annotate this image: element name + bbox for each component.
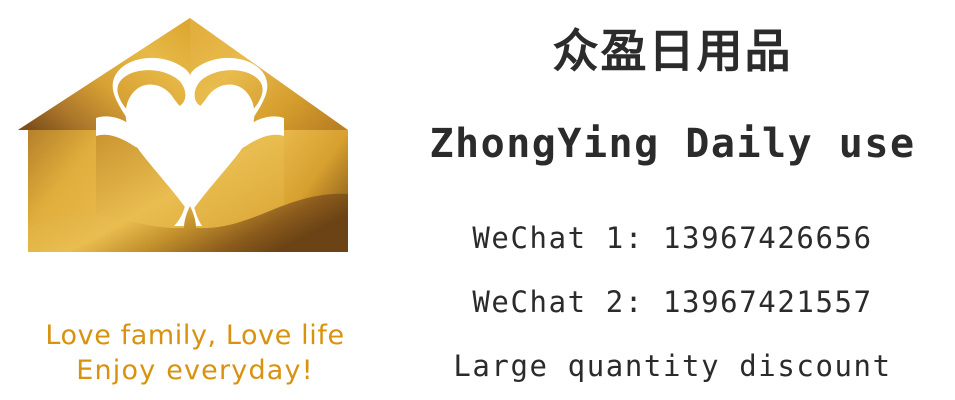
bulk-discount-note: Large quantity discount — [390, 334, 955, 398]
wechat-2-line: WeChat 2: 13967421557 — [390, 270, 955, 334]
wechat-1-line: WeChat 1: 13967426656 — [390, 206, 955, 270]
tagline-line-1: Love family, Love life — [0, 318, 390, 353]
store-name-english: ZhongYing Daily use — [390, 118, 955, 170]
contact-list: WeChat 1: 13967426656 WeChat 2: 13967421… — [390, 206, 955, 398]
brand-tagline: Love family, Love life Enjoy everyday! — [0, 318, 390, 388]
house-with-heart-hands-logo — [0, 6, 382, 256]
tagline-line-2: Enjoy everyday! — [0, 353, 390, 388]
store-name-chinese: 众盈日用品 — [390, 22, 955, 80]
brand-logo[interactable] — [0, 6, 382, 256]
store-info-block: 众盈日用品 ZhongYing Daily use WeChat 1: 1396… — [390, 0, 955, 400]
store-header-banner: Love family, Love life Enjoy everyday! 众… — [0, 0, 955, 400]
